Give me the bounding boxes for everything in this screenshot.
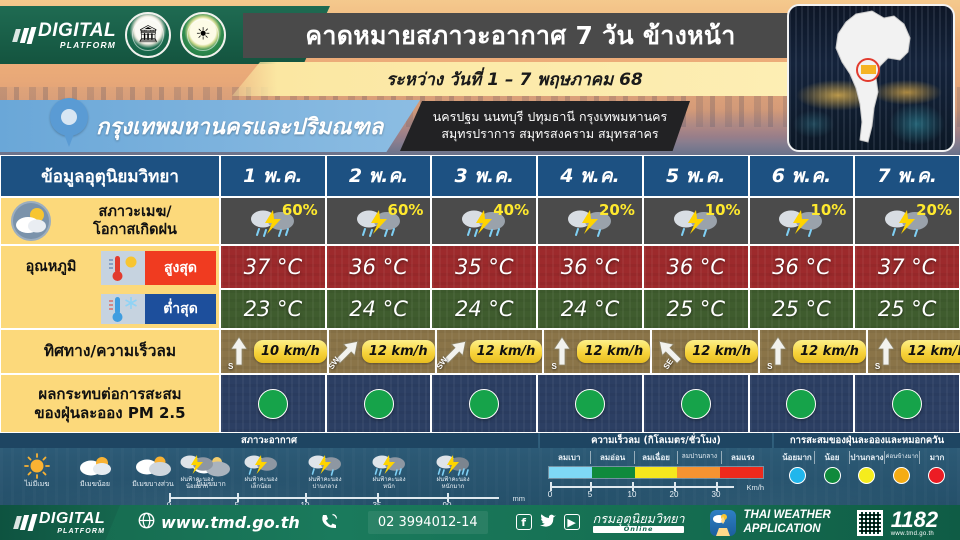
wind-color-scale <box>548 466 764 479</box>
wind-cell-5: SE 12 km/h <box>651 329 759 374</box>
temp-low-cell-7: 25 °C <box>854 289 960 329</box>
pm25-legend-dot <box>780 467 815 484</box>
wind-arrow-icon: SW <box>442 333 468 371</box>
wind-cell-2: SW 12 km/h <box>328 329 436 374</box>
legend-rain-label: ฝนฟ้าคะนองหนัก <box>357 477 421 490</box>
wind-legend-names: ลมเบา ลมอ่อน ลมเฉื่อย ลมปานกลาง ลมแรง <box>548 451 764 464</box>
cloud-sun-icon <box>11 201 51 241</box>
temp-low-cell-3: 24 °C <box>431 289 537 329</box>
pm25-indicator <box>575 389 605 419</box>
table-header-row: ข้อมูลอุตุนิยมวิทยา 1 พ.ค. 2 พ.ค. 3 พ.ค.… <box>0 155 960 197</box>
logo-bars-icon <box>14 27 34 44</box>
cloud-row: สภาวะเมฆ/ โอกาสเกิดฝน 60% 60% 40% 20% <box>0 197 960 245</box>
wind-legend: ความเร็วลม (กิโลเมตร/ชั่วโมง) ลมเบา ลมอ่… <box>540 433 772 505</box>
cloud-cell-6: 10% <box>749 197 855 245</box>
wind-arrow-icon: SW <box>334 333 360 371</box>
temp-high-label: สูงสุด <box>145 251 216 285</box>
legend-rain-light: ฝนฟ้าคะนองเล็กน้อย <box>229 451 293 490</box>
temp-row-label-bottom: ต่ำสุด <box>0 289 220 329</box>
cloud-cell-3: 40% <box>431 197 537 245</box>
temp-low-label: ต่ำสุด <box>145 294 216 324</box>
legend-rain-label: ฝนฟ้าคะนองเล็กน้อย <box>229 477 293 490</box>
pm25-cell-1 <box>220 374 326 433</box>
rain-legend-items: ฝนฟ้าคะนองน้อยมาก ฝนฟ้าคะนองเล็กน้อย ฝนฟ… <box>165 451 525 505</box>
region-name: กรุงเทพมหานครและปริมณฑล <box>96 109 383 144</box>
cloud-label-text: สภาวะเมฆ/ โอกาสเกิดฝน <box>51 203 219 239</box>
wind-speed-2: 12 km/h <box>362 340 435 363</box>
wind-cell-1: S 10 km/h <box>220 329 328 374</box>
wind-arrow-icon: S <box>226 333 252 371</box>
wind-row-label: ทิศทาง/ความเร็วลม <box>0 329 220 374</box>
date-header-4: 4 พ.ค. <box>537 155 643 197</box>
wind-arrow-icon: S <box>765 333 791 371</box>
temp-low-cell-6: 25 °C <box>749 289 855 329</box>
youtube-icon[interactable]: ▶ <box>564 514 580 530</box>
table-corner-header: ข้อมูลอุตุนิยมวิทยา <box>0 155 220 197</box>
temp-high-row: อุณหภูมิ สูงสุด 37 °C 36 °C 35 °C 36 °C … <box>0 245 960 289</box>
logo-bars-icon <box>15 514 35 531</box>
legend-rain-very-light: ฝนฟ้าคะนองน้อยมาก <box>165 451 229 490</box>
date-range-subtitle: ระหว่าง วันที่ 1 – 7 พฤษภาคม 68 <box>386 66 643 93</box>
temp-low-cell-5: 25 °C <box>643 289 749 329</box>
thailand-map-icon <box>816 8 926 148</box>
temp-high-cell-5: 36 °C <box>643 245 749 289</box>
temp-low-cell-1: 23 °C <box>220 289 326 329</box>
weather-legend: สภาวะอากาศ ไม่มีเมฆ มีเมฆน้อย มีเมฆบางส่… <box>0 433 538 505</box>
pm25-indicator <box>681 389 711 419</box>
pm25-legend-dot <box>850 467 885 484</box>
rain-scale: 0 5 10 35 90 mm <box>165 492 525 505</box>
logo-platform-text: PLATFORM <box>38 41 116 50</box>
cloud-cell-4: 20% <box>537 197 643 245</box>
pm25-cell-3 <box>431 374 537 433</box>
pm25-row-label: ผลกระทบต่อการสะสม ของฝุ่นละออง PM 2.5 <box>0 374 220 433</box>
footer-tmd-online: กรมอุตุนิยมวิทยา Online <box>593 512 685 533</box>
wind-speed-7: 12 km/h <box>901 340 960 363</box>
wind-cell-7: S 12 km/h <box>867 329 960 374</box>
footer-social-links: f ▶ กรมอุตุนิยมวิทยา Online <box>516 512 685 533</box>
date-header-3: 3 พ.ค. <box>431 155 537 197</box>
logo-digital-text: DIGITAL <box>38 21 116 40</box>
province-line-1: นครปฐม นนทบุรี ปทุมธานี กรุงเทพมหานคร <box>433 109 667 126</box>
pm25-indicator <box>258 389 288 419</box>
rain-chance-6: 10% <box>810 201 846 219</box>
wind-cell-6: S 12 km/h <box>759 329 867 374</box>
footer-digital-platform-logo: DIGITAL PLATFORM <box>0 505 120 540</box>
forecast-table: ข้อมูลอุตุนิยมวิทยา 1 พ.ค. 2 พ.ค. 3 พ.ค.… <box>0 155 960 433</box>
wind-speed-4: 12 km/h <box>577 340 650 363</box>
location-pin-icon <box>50 98 88 148</box>
pm25-indicator <box>364 389 394 419</box>
thunderstorm-icon <box>165 451 229 477</box>
thunderstorm-icon <box>293 451 357 477</box>
wind-arrow-icon: S <box>549 333 575 371</box>
pm25-legend-title: การสะสมของฝุ่นละอองและหมอกควัน <box>774 433 960 448</box>
cloud-cell-1: 60% <box>220 197 326 245</box>
footer-phone[interactable]: 02 3994012-14 <box>300 511 488 534</box>
province-list: นครปฐม นนทบุรี ปทุมธานี กรุงเทพมหานคร สม… <box>400 101 690 151</box>
pm25-legend-dot <box>884 467 919 484</box>
legend-rain-very-heavy: ฝนฟ้าคะนองหนักมาก <box>421 451 485 490</box>
wind-cell-4: S 12 km/h <box>543 329 651 374</box>
temp-high-cell-2: 36 °C <box>326 245 432 289</box>
pm25-row: ผลกระทบต่อการสะสม ของฝุ่นละออง PM 2.5 <box>0 374 960 433</box>
temp-row-label-top: อุณหภูมิ สูงสุด <box>0 245 220 289</box>
cloud-cell-5: 10% <box>643 197 749 245</box>
wind-cell-3: SW 12 km/h <box>436 329 544 374</box>
date-header-7: 7 พ.ค. <box>854 155 960 197</box>
legend-rain-moderate: ฝนฟ้าคะนองปานกลาง <box>293 451 357 490</box>
date-header-5: 5 พ.ค. <box>643 155 749 197</box>
temp-low-row: ต่ำสุด 23 °C 24 °C 24 °C 24 °C 25 °C 25 … <box>0 289 960 329</box>
tmd-seal-icon: ☀ <box>180 12 226 58</box>
legend-rain-heavy: ฝนฟ้าคะนองหนัก <box>357 451 421 490</box>
temp-high-cell-1: 37 °C <box>220 245 326 289</box>
wind-arrow-icon: S <box>873 333 899 371</box>
rain-chance-3: 40% <box>493 201 529 219</box>
subtitle-bar: ระหว่าง วันที่ 1 – 7 พฤษภาคม 68 <box>232 62 797 96</box>
twitter-icon[interactable] <box>539 513 557 532</box>
royal-seal-icon: 🏛 <box>125 12 171 58</box>
date-header-6: 6 พ.ค. <box>749 155 855 197</box>
thunderstorm-icon <box>229 451 293 477</box>
thai-weather-app-icon[interactable] <box>710 510 736 536</box>
digital-platform-logo: DIGITAL PLATFORM <box>14 21 116 50</box>
wind-row: ทิศทาง/ความเร็วลม S 10 km/h SW 12 km/h S… <box>0 329 960 374</box>
pm25-legend-dot <box>919 467 954 484</box>
rain-chance-2: 60% <box>388 201 424 219</box>
main-title-bar: คาดหมายสภาวะอากาศ 7 วัน ข้างหน้า <box>243 13 798 58</box>
pm25-cell-6 <box>749 374 855 433</box>
rain-chance-1: 60% <box>282 201 318 219</box>
pm25-legend-dot <box>815 467 850 484</box>
legend-rain-label: ฝนฟ้าคะนองน้อยมาก <box>165 477 229 490</box>
date-header-2: 2 พ.ค. <box>326 155 432 197</box>
rain-chance-5: 10% <box>705 201 741 219</box>
legend-rain-label: ฝนฟ้าคะนองปานกลาง <box>293 477 357 490</box>
legend-item-clear: ไม่มีเมฆ <box>8 453 66 488</box>
temp-high-cell-4: 36 °C <box>537 245 643 289</box>
sun-small-cloud-icon <box>66 453 124 479</box>
province-line-2: สมุทรปราการ สมุทรสงคราม สมุทรสาคร <box>441 126 658 143</box>
thunderstorm-icon <box>357 451 421 477</box>
footer-bar: DIGITAL PLATFORM www.tmd.go.th 02 399401… <box>0 505 960 540</box>
footer-app-name: THAI WEATHER APPLICATION <box>743 509 830 537</box>
wind-scale: 0 5 10 20 30 Km/h <box>548 481 764 497</box>
cloud-cell-7: 20% <box>854 197 960 245</box>
pm25-legend-dots <box>780 467 954 484</box>
pm25-cell-5 <box>643 374 749 433</box>
globe-icon <box>138 512 155 533</box>
rain-chance-4: 20% <box>599 201 635 219</box>
qr-code-icon[interactable] <box>857 510 883 536</box>
thailand-map-thumbnail <box>787 4 955 152</box>
legend-rain-label: ฝนฟ้าคะนองหนักมาก <box>421 477 485 490</box>
thermometer-cold-icon <box>101 294 145 324</box>
pm25-indicator <box>469 389 499 419</box>
facebook-icon[interactable]: f <box>516 514 532 530</box>
wind-arrow-icon: SE <box>657 333 683 371</box>
temp-low-cell-2: 24 °C <box>326 289 432 329</box>
footer-hotline: 1182 www.tmd.go.th <box>891 509 938 537</box>
page-title: คาดหมายสภาวะอากาศ 7 วัน ข้างหน้า <box>305 16 735 56</box>
pm25-legend: การสะสมของฝุ่นละอองและหมอกควัน น้อยมาก น… <box>774 433 960 505</box>
thunderstorm-icon <box>421 451 485 477</box>
phone-icon <box>320 512 338 534</box>
pm25-cell-4 <box>537 374 643 433</box>
legend-bar: สภาวะอากาศ ไม่มีเมฆ มีเมฆน้อย มีเมฆบางส่… <box>0 433 960 505</box>
pm25-cell-2 <box>326 374 432 433</box>
temperature-label: อุณหภูมิ <box>1 258 101 276</box>
date-header-1: 1 พ.ค. <box>220 155 326 197</box>
wind-speed-6: 12 km/h <box>793 340 866 363</box>
weather-forecast-infographic: DIGITAL PLATFORM 🏛 ☀ คาดหมายสภาวะอากาศ 7… <box>0 0 960 540</box>
wind-speed-5: 12 km/h <box>685 340 758 363</box>
wind-legend-title: ความเร็วลม (กิโลเมตร/ชั่วโมง) <box>540 433 772 448</box>
weather-legend-title: สภาวะอากาศ <box>0 433 538 448</box>
pm25-indicator <box>786 389 816 419</box>
cloud-cell-2: 60% <box>326 197 432 245</box>
temp-high-cell-7: 37 °C <box>854 245 960 289</box>
wind-speed-1: 10 km/h <box>254 340 327 363</box>
pm25-legend-names: น้อยมาก น้อย ปานกลาง ค่อนข้างมาก มาก <box>780 451 954 464</box>
thermometer-hot-icon <box>101 251 145 285</box>
legend-item-few-clouds: มีเมฆน้อย <box>66 453 124 488</box>
footer-website[interactable]: www.tmd.go.th <box>138 512 300 533</box>
sun-icon <box>8 453 66 479</box>
temp-high-cell-6: 36 °C <box>749 245 855 289</box>
rain-chance-7: 20% <box>916 201 952 219</box>
pm25-indicator <box>892 389 922 419</box>
pm25-cell-7 <box>854 374 960 433</box>
temp-high-cell-3: 35 °C <box>431 245 537 289</box>
wind-speed-3: 12 km/h <box>470 340 543 363</box>
temp-low-cell-4: 24 °C <box>537 289 643 329</box>
cloud-row-label: สภาวะเมฆ/ โอกาสเกิดฝน <box>0 197 220 245</box>
